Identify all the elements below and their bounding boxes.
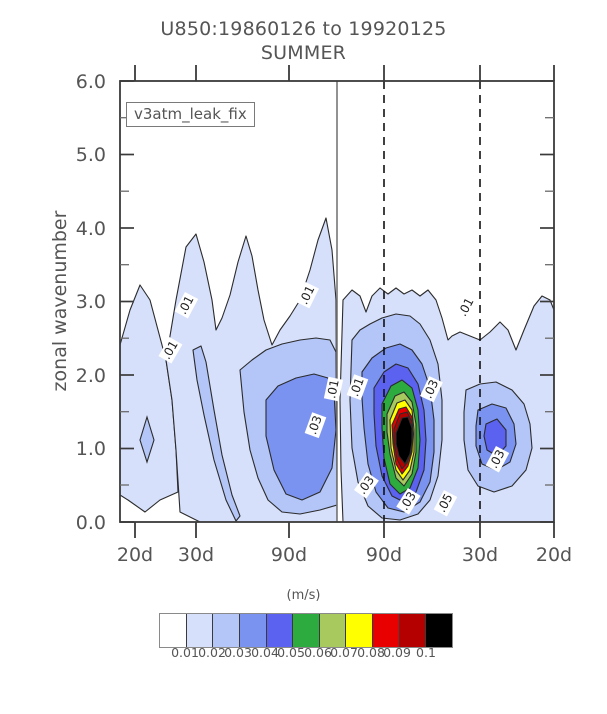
- y-tick-label-4: 4.0: [46, 218, 106, 240]
- colorbar-cell-2: [213, 614, 240, 647]
- y-tick-label-1: 1.0: [46, 438, 106, 460]
- colorbar-cell-8: [373, 614, 400, 647]
- x-tick-label-1: 30d: [161, 544, 231, 566]
- case-label-box: v3atm_leak_fix: [126, 102, 255, 127]
- colorbar-cell-0: [160, 614, 187, 647]
- colorbar-unit-label: (m/s): [0, 588, 607, 603]
- colorbar-cell-9: [400, 614, 427, 647]
- colorbar-label-9: 0.1: [404, 645, 448, 660]
- x-tick-label-5: 20d: [519, 544, 589, 566]
- colorbar-cell-4: [267, 614, 294, 647]
- colorbar-cell-5: [293, 614, 320, 647]
- colorbar-cell-7: [346, 614, 373, 647]
- y-tick-label-2: 2.0: [46, 365, 106, 387]
- y-tick-label-5: 5.0: [46, 144, 106, 166]
- x-tick-label-4: 30d: [445, 544, 515, 566]
- colorbar[interactable]: [159, 613, 453, 648]
- x-tick-label-2: 90d: [254, 544, 324, 566]
- colorbar-cell-10: [426, 614, 452, 647]
- y-tick-label-3: 3.0: [46, 291, 106, 313]
- colorbar-cell-3: [240, 614, 267, 647]
- y-tick-label-6: 6.0: [46, 71, 106, 93]
- figure-root: U850:19860126 to 19920125 SUMMER zonal w…: [0, 0, 607, 714]
- x-tick-label-3: 90d: [349, 544, 419, 566]
- x-tick-label-0: 20d: [100, 544, 170, 566]
- y-tick-label-0: 0.0: [46, 512, 106, 534]
- colorbar-cell-1: [187, 614, 214, 647]
- colorbar-cell-6: [320, 614, 347, 647]
